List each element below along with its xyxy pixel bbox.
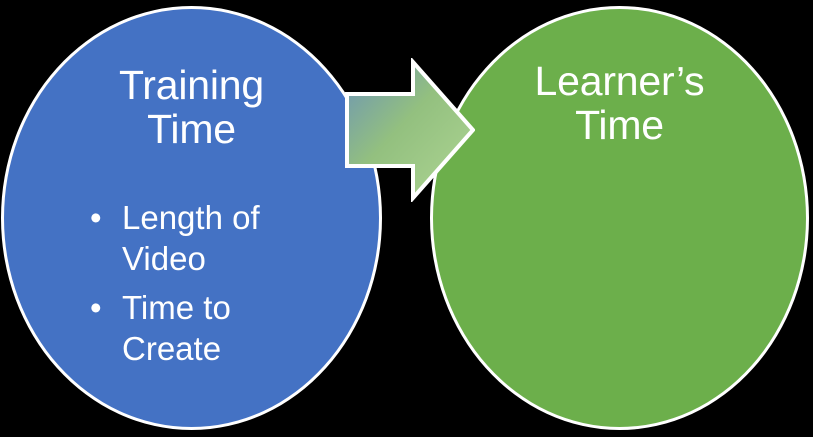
node-learners-time-title: Learner’s Time <box>433 59 806 147</box>
bullet-dot-icon: • <box>90 197 102 238</box>
bullet-dot-icon: • <box>90 287 102 328</box>
node-training-time[interactable]: Training Time • Length of Video • Time t… <box>1 6 382 430</box>
list-item-label: Time to Create <box>122 287 324 369</box>
node-learners-time[interactable]: Learner’s Time • Time Available • Need t… <box>430 6 809 430</box>
node-training-time-title: Training Time <box>4 63 379 151</box>
list-item-label: Length of Video <box>122 197 324 279</box>
arrow-right-icon <box>345 58 475 202</box>
diagram-canvas: Training Time • Length of Video • Time t… <box>0 0 813 437</box>
list-item: • Length of Video <box>84 197 324 279</box>
list-item: • Time to Create <box>84 287 324 369</box>
node-training-time-bullet-list: • Length of Video • Time to Create <box>84 197 324 377</box>
